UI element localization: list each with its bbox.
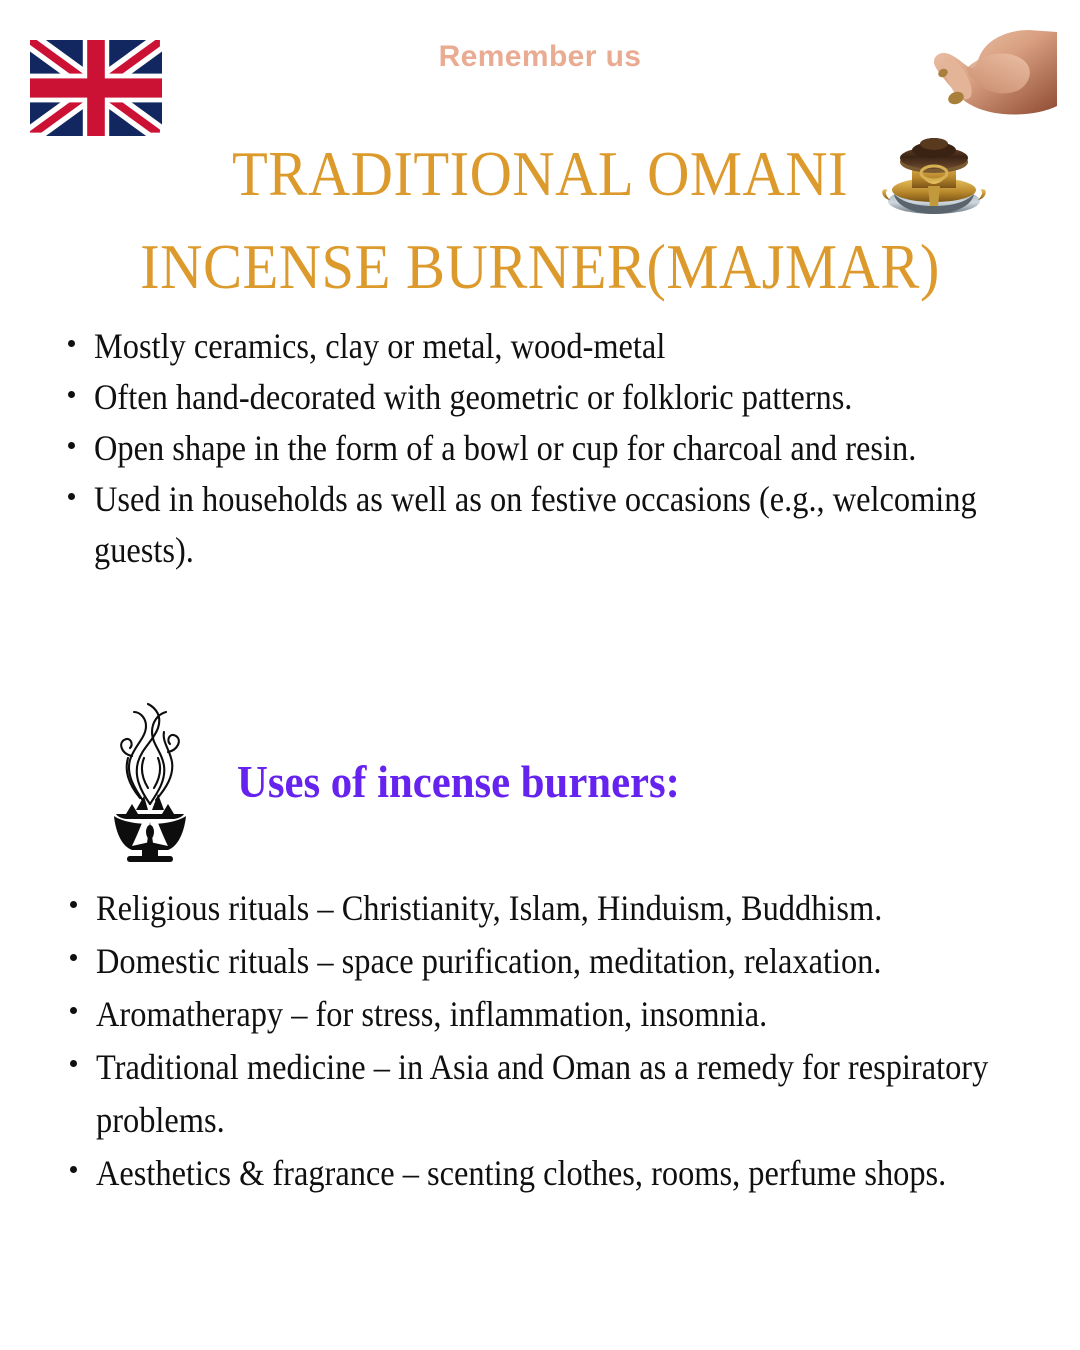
list-item: Traditional medicine – in Asia and Oman …: [56, 1041, 1080, 1147]
list-item-text: Often hand-decorated with geometric or f…: [94, 372, 1066, 423]
bullet-dot-icon: [70, 1060, 77, 1067]
bullet-dot-icon: [70, 1007, 77, 1014]
list-item: Open shape in the form of a bowl or cup …: [54, 423, 1080, 474]
uses-list: Religious rituals – Christianity, Islam,…: [56, 882, 1080, 1200]
list-item-text: Mostly ceramics, clay or metal, wood-met…: [94, 321, 1066, 372]
page-title-line-2: INCENSE BURNER(MAJMAR): [38, 221, 1042, 314]
properties-list: Mostly ceramics, clay or metal, wood-met…: [54, 321, 1080, 576]
list-item-text: Religious rituals – Christianity, Islam,…: [96, 882, 1059, 935]
list-item-text: Aromatherapy – for stress, inflammation,…: [96, 988, 1059, 1041]
bullet-dot-icon: [68, 442, 75, 449]
bullet-dot-icon: [70, 1166, 77, 1173]
list-item: Used in households as well as on festive…: [54, 474, 1080, 576]
bullet-dot-icon: [70, 954, 77, 961]
page-title-line-1: TRADITIONAL OMANI: [38, 128, 1042, 221]
bullet-dot-icon: [68, 391, 75, 398]
list-item-text: Open shape in the form of a bowl or cup …: [94, 423, 1066, 474]
list-item-text: Traditional medicine – in Asia and Oman …: [96, 1041, 1059, 1147]
tagline: Remember us: [0, 40, 1080, 74]
list-item-text: Aesthetics & fragrance – scenting clothe…: [96, 1147, 1059, 1200]
bullet-dot-icon: [68, 340, 75, 347]
list-item-text: Domestic rituals – space purification, m…: [96, 935, 1059, 988]
poster-page: Remember us: [0, 0, 1080, 1350]
hand-dropping-resin-photo: [925, 28, 1057, 122]
bullet-dot-icon: [70, 901, 77, 908]
incense-burner-smoke-icon: [96, 692, 204, 864]
page-title: TRADITIONAL OMANI INCENSE BURNER(MAJMAR): [38, 128, 1042, 314]
list-item: Domestic rituals – space purification, m…: [56, 935, 1080, 988]
list-item: Religious rituals – Christianity, Islam,…: [56, 882, 1080, 935]
uses-section-heading: Uses of incense burners:: [237, 755, 680, 810]
list-item: Often hand-decorated with geometric or f…: [54, 372, 1080, 423]
list-item: Aromatherapy – for stress, inflammation,…: [56, 988, 1080, 1041]
list-item: Mostly ceramics, clay or metal, wood-met…: [54, 321, 1080, 372]
bullet-dot-icon: [68, 493, 75, 500]
list-item: Aesthetics & fragrance – scenting clothe…: [56, 1147, 1080, 1200]
list-item-text: Used in households as well as on festive…: [94, 474, 1066, 576]
